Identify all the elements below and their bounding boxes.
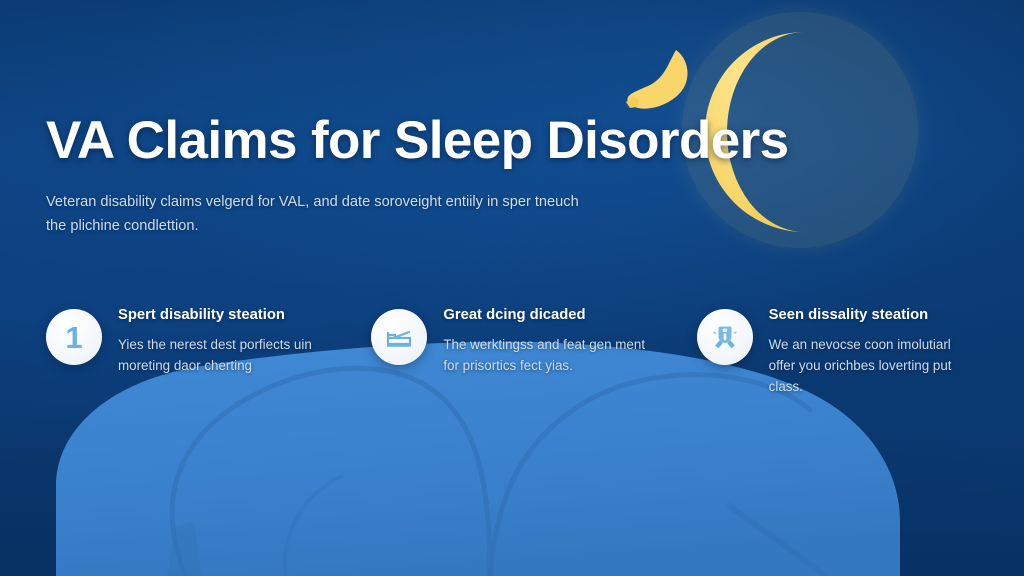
badge-number-label: 1 [65, 322, 82, 353]
feature-text-2: Great dcing dicaded The werktingss and f… [443, 305, 648, 376]
feature-item-1: 1 Spert disability steation Yies the ner… [46, 305, 343, 397]
feature-body-2: The werktingss and feat gen ment for pri… [443, 334, 648, 376]
poster-header: VA Claims for Sleep Disorders Veteran di… [46, 112, 986, 239]
feature-body-1: Yies the nerest dest porfiects uin moret… [118, 334, 323, 376]
feature-list: 1 Spert disability steation Yies the ner… [46, 305, 994, 397]
poster-canvas: VA Claims for Sleep Disorders Veteran di… [0, 0, 1024, 576]
feature-text-3: Seen dissality steation We an nevocse co… [769, 305, 974, 397]
feature-heading-3: Seen dissality steation [769, 307, 974, 325]
feature-body-3: We an nevocse coon imolutiarl offer you … [769, 334, 974, 398]
star-icon [626, 96, 639, 108]
cpap-mask-icon [697, 309, 753, 365]
feature-item-3: Seen dissality steation We an nevocse co… [697, 305, 994, 397]
feature-text-1: Spert disability steation Yies the neres… [118, 305, 323, 376]
step-one-badge-icon: 1 [46, 309, 102, 365]
page-title: VA Claims for Sleep Disorders [46, 112, 986, 169]
moon-decor-layer [0, 0, 1024, 576]
background-vignette [0, 0, 1024, 576]
feature-heading-1: Spert disability steation [118, 307, 323, 325]
feature-heading-2: Great dcing dicaded [443, 307, 648, 325]
feature-item-2: Great dcing dicaded The werktingss and f… [371, 305, 668, 397]
small-crescent-icon [627, 50, 687, 109]
bed-icon [371, 309, 427, 365]
page-subtitle: Veteran disability claims velgerd for VA… [46, 191, 586, 238]
